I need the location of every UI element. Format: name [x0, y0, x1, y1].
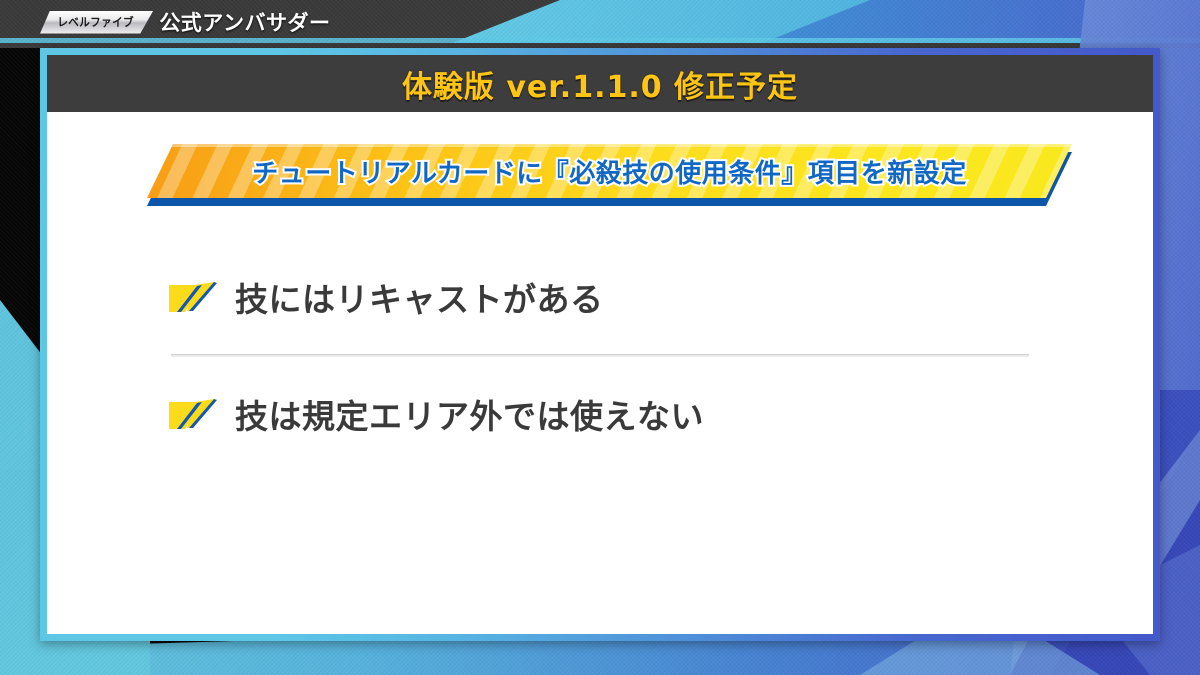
publisher-badge-label: レベルファイブ — [57, 14, 134, 30]
slash-bullet-icon — [165, 280, 217, 314]
list-item: 技は規定エリア外では使えない — [165, 381, 1033, 447]
slide-stage: レベルファイブ 公式アンバサダー 体験版 ver.1.1.0 修正予定 チュート… — [0, 0, 1200, 675]
list-divider — [171, 354, 1029, 357]
list-item-label: 技は規定エリア外では使えない — [235, 390, 704, 438]
headline-banner: チュートリアルカードに『必殺技の使用条件』項目を新設定 — [147, 144, 1072, 198]
page-title: 体験版 ver.1.1.0 修正予定 — [402, 62, 798, 106]
content-card: 体験版 ver.1.1.0 修正予定 チュートリアルカードに『必殺技の使用条件』… — [40, 48, 1160, 641]
headline-banner-text: チュートリアルカードに『必殺技の使用条件』項目を新設定 — [252, 153, 966, 190]
slash-bullet-icon — [165, 397, 217, 431]
bullet-list: 技にはリキャストがある 技は規定エリア外では使えない — [47, 264, 1153, 447]
list-item: 技にはリキャストがある — [165, 264, 1033, 330]
list-item-label: 技にはリキャストがある — [235, 273, 604, 321]
card-header-bar: 体験版 ver.1.1.0 修正予定 — [47, 55, 1153, 112]
headline-banner-wrap: チュートリアルカードに『必殺技の使用条件』項目を新設定 — [47, 144, 1153, 206]
content-card-inner: 体験版 ver.1.1.0 修正予定 チュートリアルカードに『必殺技の使用条件』… — [47, 55, 1153, 634]
slash-bullet-glyph — [165, 397, 217, 431]
publisher-badge: レベルファイブ — [40, 11, 153, 34]
slash-bullet-glyph — [165, 280, 217, 314]
